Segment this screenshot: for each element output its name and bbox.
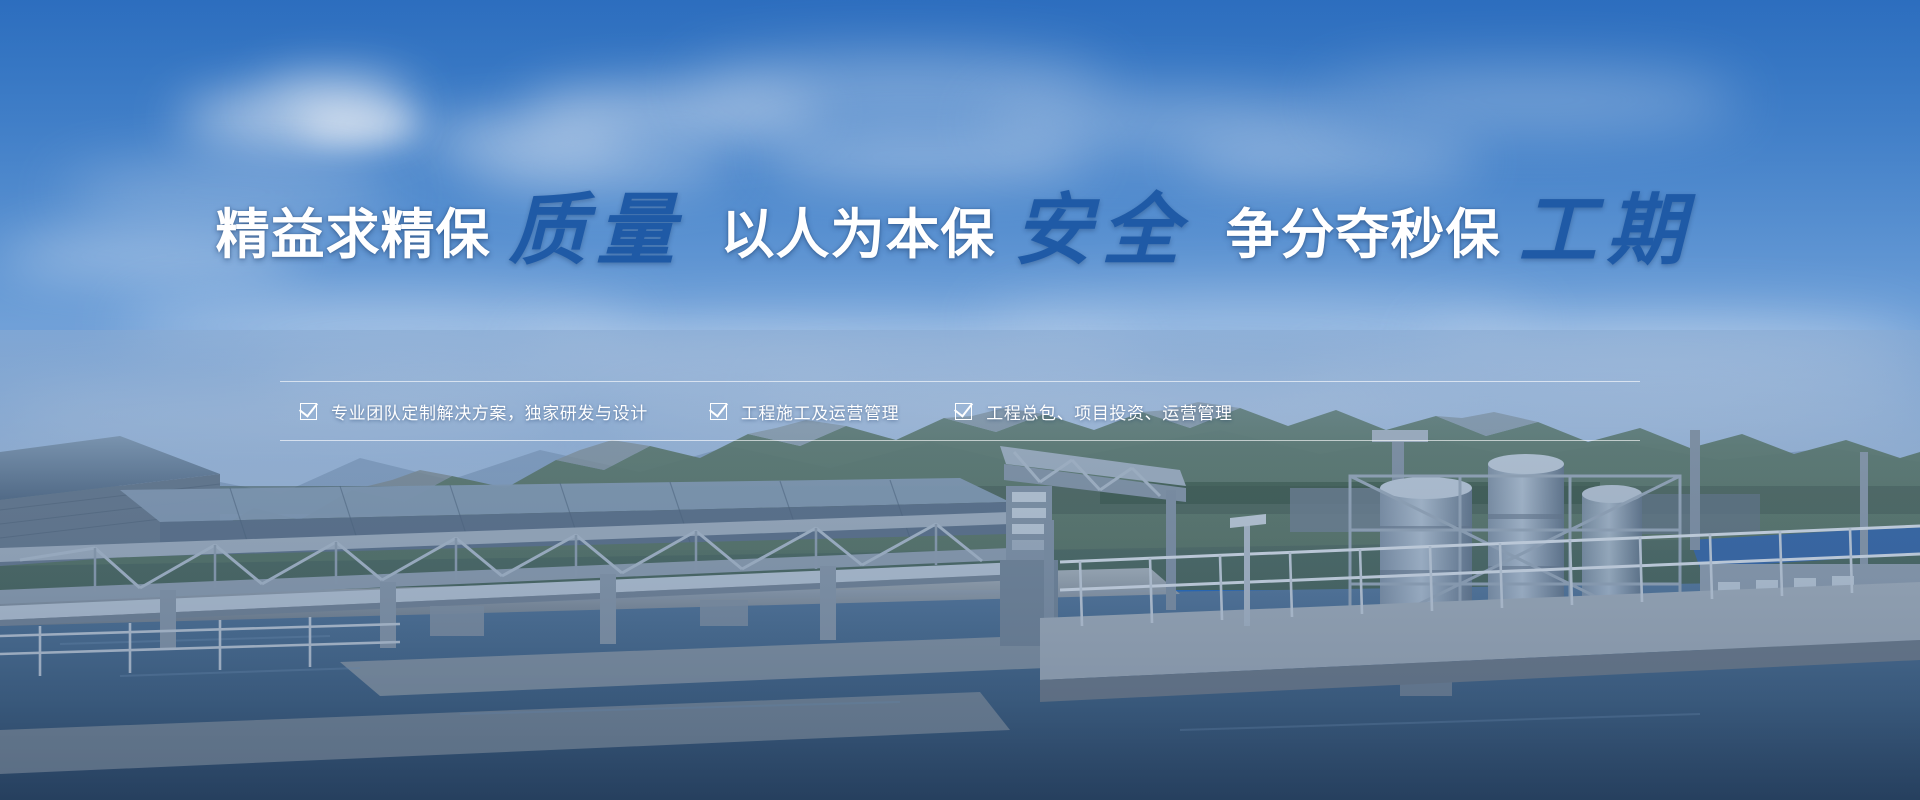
headline-plain-1: 精益求精保 xyxy=(215,203,490,266)
hero-banner: 精益求精保质量以人为本保安全争分夺秒保工期 专业团队定制解决方案，独家研发与设计… xyxy=(0,0,1920,800)
industrial-plant-foreground xyxy=(0,430,1920,800)
feature-list: 专业团队定制解决方案，独家研发与设计 工程施工及运营管理 工程总包、项目投资、运… xyxy=(280,382,1640,440)
headline-script-2: 安全 xyxy=(995,185,1199,276)
checkbox-checked-icon xyxy=(300,403,317,420)
headline-script-3: 工期 xyxy=(1501,185,1705,276)
feature-item-1-label: 专业团队定制解决方案，独家研发与设计 xyxy=(331,399,648,424)
feature-item-3-label: 工程总包、项目投资、运营管理 xyxy=(986,399,1232,424)
headline: 精益求精保质量以人为本保安全争分夺秒保工期 xyxy=(0,196,1920,274)
plant-svg xyxy=(0,430,1920,800)
checkbox-checked-icon xyxy=(955,403,972,420)
checkbox-checked-icon xyxy=(710,403,727,420)
feature-item-2[interactable]: 工程施工及运营管理 xyxy=(710,399,899,424)
feature-strip: 专业团队定制解决方案，独家研发与设计 工程施工及运营管理 工程总包、项目投资、运… xyxy=(280,381,1640,441)
headline-script-1: 质量 xyxy=(490,185,694,276)
feature-item-1[interactable]: 专业团队定制解决方案，独家研发与设计 xyxy=(300,399,648,424)
headline-plain-3: 争分夺秒保 xyxy=(1226,203,1501,266)
feature-item-3[interactable]: 工程总包、项目投资、运营管理 xyxy=(955,399,1232,424)
headline-plain-2: 以人为本保 xyxy=(720,203,995,266)
feature-item-2-label: 工程施工及运营管理 xyxy=(741,399,899,424)
divider-bottom xyxy=(280,440,1640,441)
